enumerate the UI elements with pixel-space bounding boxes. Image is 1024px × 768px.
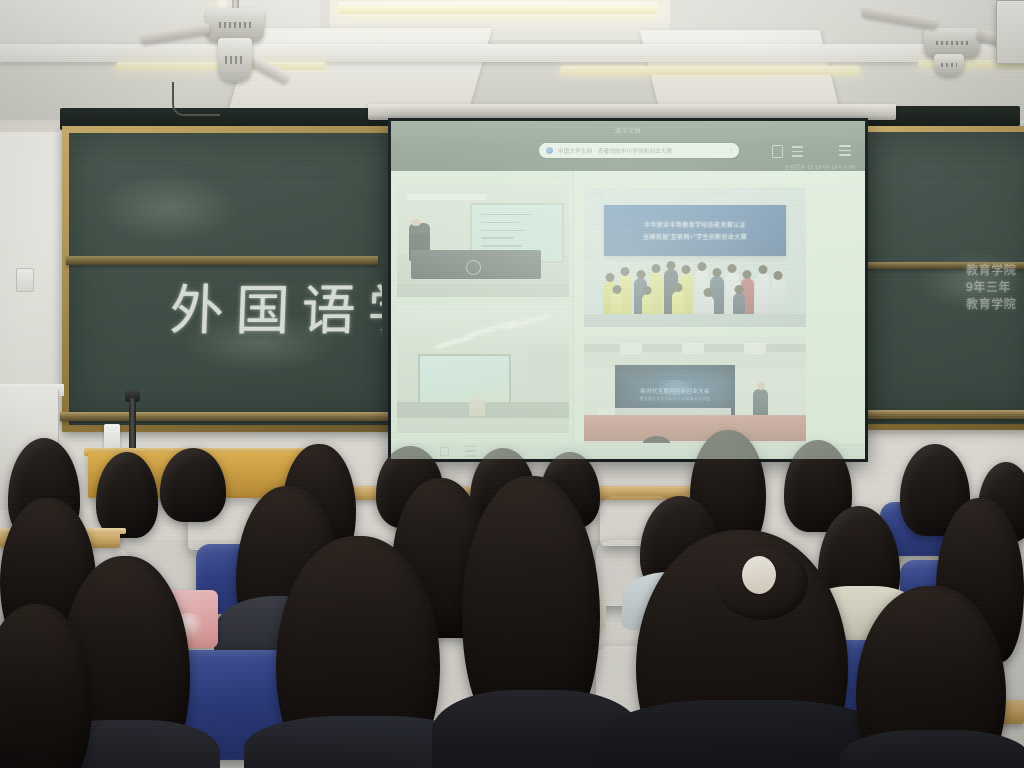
hall-screen-title: 新时代互联网创新创业大会 (627, 387, 723, 395)
tube-light (338, 2, 658, 14)
omnibox-value: 中国大学生网 - 青春领航中小学创新创业大赛 (558, 147, 725, 155)
browser-status-text: 正在同步 12:13·00·13·6·5·00 (785, 164, 855, 171)
banner-line-1: 中华职业中等教育学校技能竞赛认证 (644, 220, 746, 229)
photo-speaker-podium (397, 185, 569, 297)
classroom-scene: 外国语学院 考研交流会 2023.10.19 教育学院 9年三年 教育学院 演示… (0, 0, 1024, 768)
browser-omnibox[interactable]: 中国大学生网 - 青春领航中小学创新创业大赛 › (539, 143, 739, 158)
blackboard-left-frame (62, 126, 396, 432)
photo-group-banner: 中华职业中等教育学校技能竞赛认证 全国首届“互联网+”学生创新创业大赛 (584, 187, 806, 327)
favicon-icon (546, 147, 553, 154)
banner-line-2: 全国首届“互联网+”学生创新创业大赛 (643, 232, 747, 241)
blackboard-divider (864, 262, 1024, 269)
bookmark-icon[interactable] (772, 145, 783, 158)
browser-toolbar-icons (772, 145, 803, 158)
ceiling-wire (172, 82, 220, 116)
browser-titlebar: 演示文稿 (391, 121, 865, 139)
blackboard-right-frame (862, 126, 1024, 430)
hall-screen-sub: 暨全国大学生创新创业成果展示交流会 (637, 396, 714, 402)
tube-light (560, 66, 860, 75)
square-icon[interactable] (440, 447, 449, 456)
wall-socket (16, 268, 34, 292)
blackboard-ledge (60, 412, 390, 421)
content-left-column (391, 171, 573, 459)
hamburger-menu-icon[interactable] (839, 145, 851, 156)
wall-panel (0, 132, 63, 392)
paper-cup (104, 424, 120, 450)
ceiling-beam (0, 44, 1024, 62)
content-right-column: 中华职业中等教育学校技能竞赛认证 全国首届“互联网+”学生创新创业大赛 (573, 171, 865, 459)
photo-classroom-screen (397, 305, 569, 433)
list-icon[interactable] (465, 446, 476, 457)
chevron-right-icon[interactable]: › (730, 147, 732, 154)
browser-window-title: 演示文稿 (615, 126, 641, 135)
browser-content: 中华职业中等教育学校技能竞赛认证 全国首届“互联网+”学生创新创业大赛 (391, 171, 865, 459)
blackboard-ledge (858, 410, 1024, 419)
blackboard-divider (66, 256, 378, 265)
photo-conference-hall: 新时代互联网创新创业大会 暨全国大学生创新创业成果展示交流会 (584, 337, 806, 455)
group-people (600, 246, 791, 322)
list-icon[interactable] (792, 146, 803, 157)
projection-screen: 演示文稿 中国大学生网 - 青春领航中小学创新创业大赛 › 正在同步 12:13… (388, 118, 868, 462)
browser-status-strip: 正在同步 12:13·00·13·6·5·00 (785, 164, 855, 171)
